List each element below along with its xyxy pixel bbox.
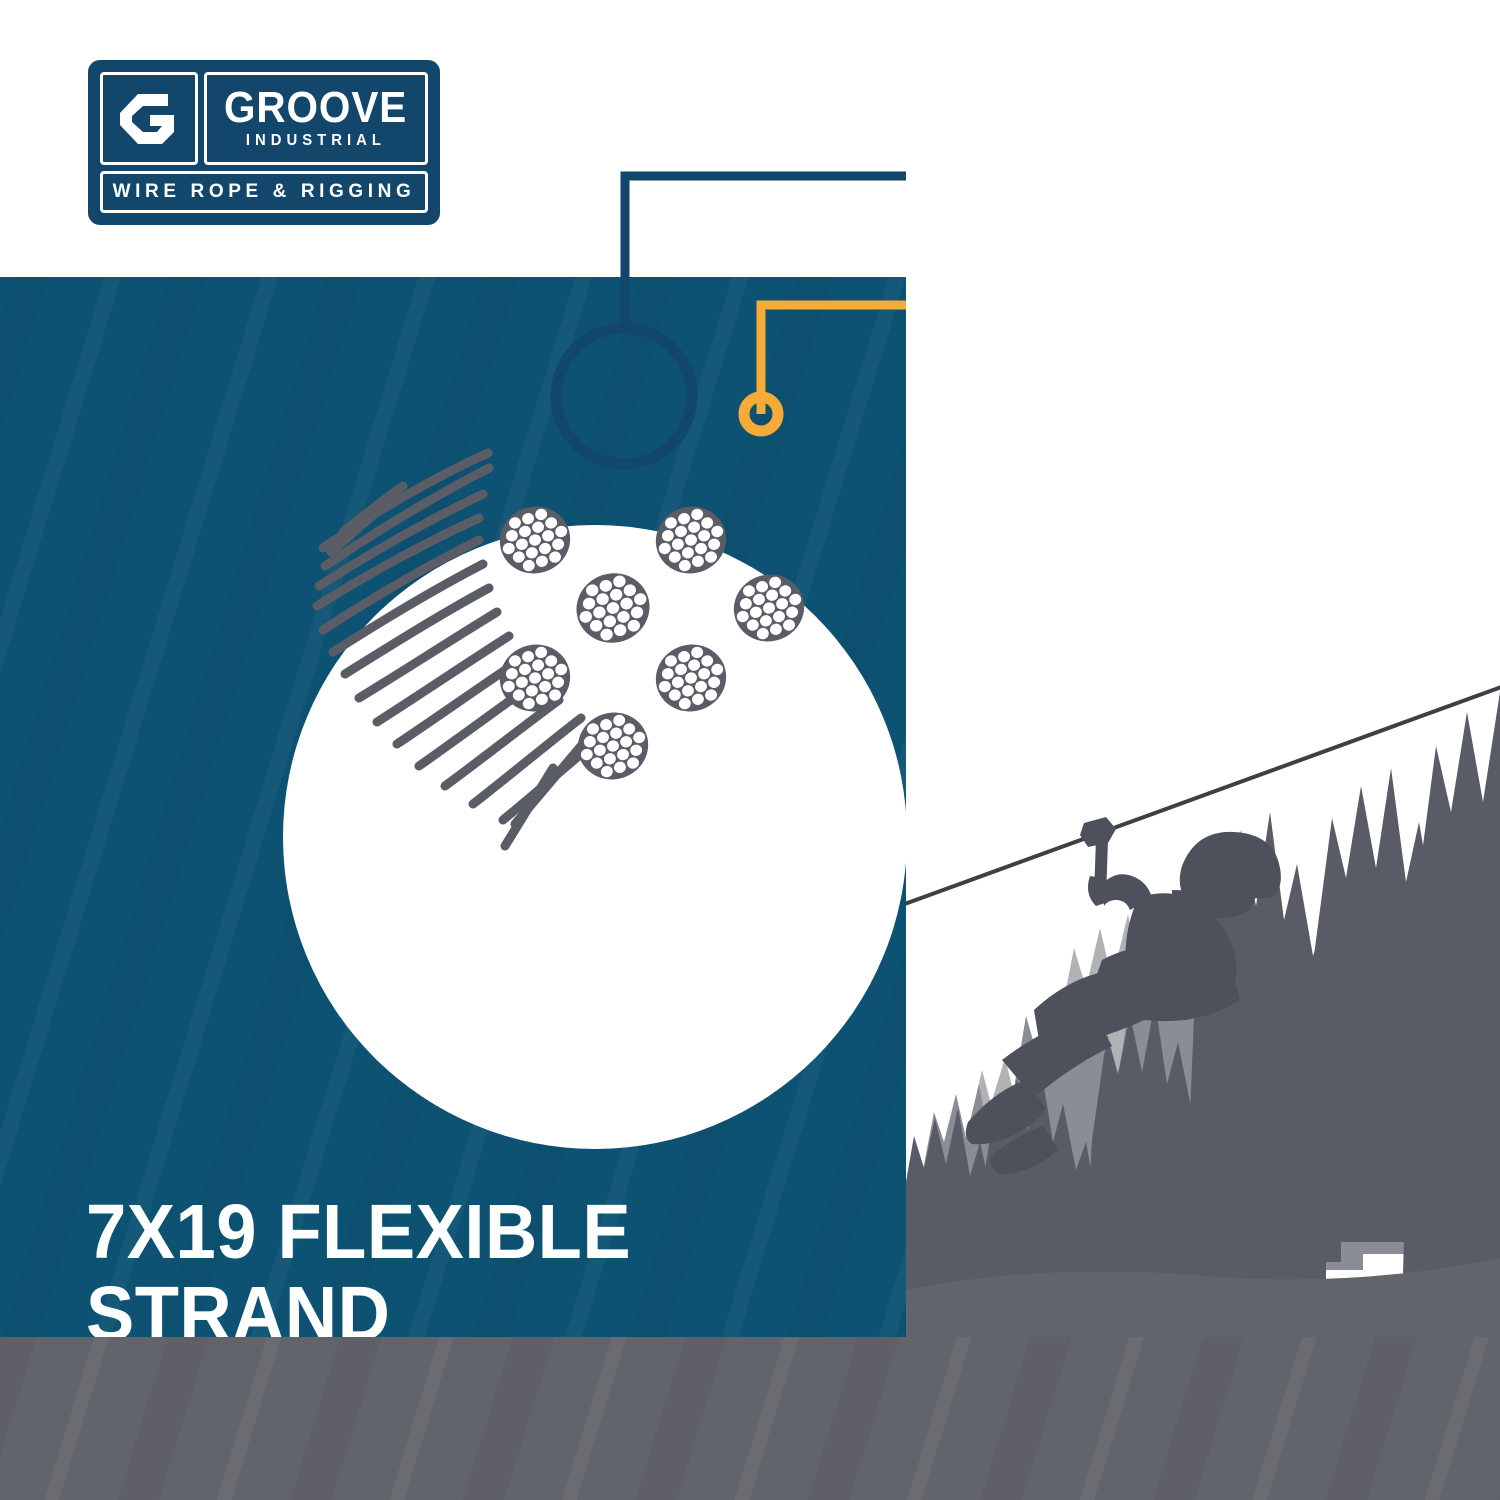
bottom-band bbox=[0, 1337, 1500, 1500]
headline-line-2: STRAND CONSTRUCTION bbox=[86, 1274, 838, 1337]
brand-name: GROOVE bbox=[224, 87, 407, 129]
rope-strand-3 bbox=[725, 565, 813, 650]
groove-g-monogram-icon bbox=[100, 72, 198, 165]
rope-strand-2 bbox=[647, 497, 735, 582]
wire-rope-cross-section bbox=[283, 248, 907, 872]
brand-tagline-bar: WIRE ROPE & RIGGING bbox=[100, 171, 428, 213]
brand-wordmark: GROOVE INDUSTRIAL bbox=[204, 72, 428, 165]
rope-strand-1 bbox=[491, 497, 579, 582]
bottom-band-texture bbox=[0, 1337, 1500, 1500]
rope-strand-4 bbox=[647, 635, 735, 720]
brand-subtitle: INDUSTRIAL bbox=[246, 132, 386, 150]
headline-line-1: 7X19 FLEXIBLE bbox=[86, 1192, 838, 1274]
brand-tagline: WIRE ROPE & RIGGING bbox=[113, 181, 416, 203]
brand-logo[interactable]: GROOVE INDUSTRIAL WIRE ROPE & RIGGING bbox=[88, 60, 440, 225]
page-title: 7X19 FLEXIBLE STRAND CONSTRUCTION bbox=[86, 1192, 838, 1337]
rope-strand-0 bbox=[567, 564, 658, 652]
infographic-root: GROOVE INDUSTRIAL WIRE ROPE & RIGGING 7X… bbox=[0, 0, 1500, 1500]
zipline-photo bbox=[906, 0, 1500, 1337]
